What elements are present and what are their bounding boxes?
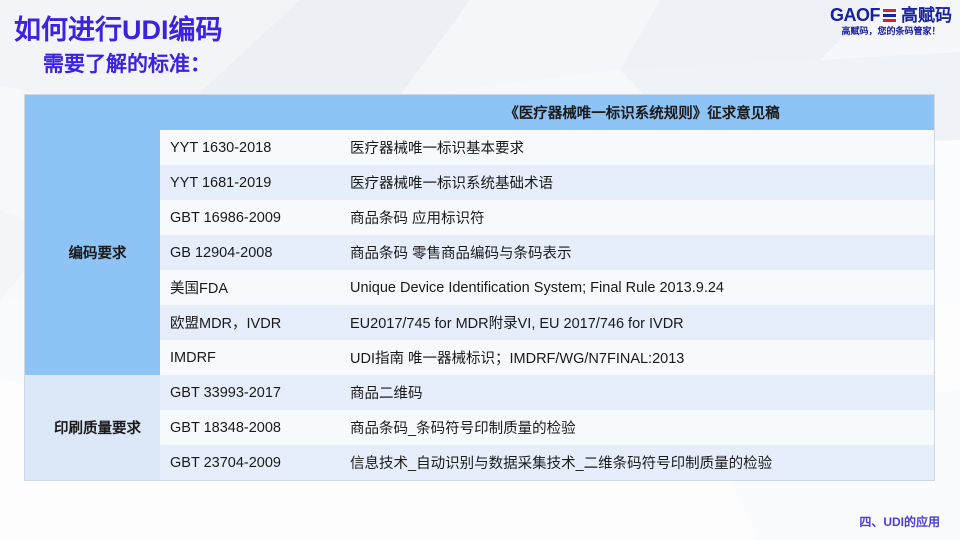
group-label-coding: 编码要求 xyxy=(25,130,160,375)
standard-code: GBT 23704-2009 xyxy=(160,445,340,480)
standard-desc: Unique Device Identification System; Fin… xyxy=(340,270,934,305)
logo-chinese-name: 高赋码 xyxy=(901,7,952,24)
slide-footer-section: 四、UDI的应用 xyxy=(859,513,940,530)
standard-desc: 医疗器械唯一标识基本要求 xyxy=(340,130,934,165)
standard-code: GBT 18348-2008 xyxy=(160,410,340,445)
standard-code: GBT 16986-2009 xyxy=(160,200,340,235)
standard-desc: 商品条码_条码符号印制质量的检验 xyxy=(340,410,934,445)
standard-code: IMDRF xyxy=(160,340,340,375)
group-label-print-quality: 印刷质量要求 xyxy=(25,375,160,480)
brand-logo: GAOF 高赋码 高赋码，您的条码管家！ xyxy=(830,6,952,36)
table-row: 美国FDA Unique Device Identification Syste… xyxy=(25,270,934,305)
header-main-title-cell: 《医疗器械唯一标识系统规则》征求意见稿 xyxy=(340,95,934,130)
standards-table: 《医疗器械唯一标识系统规则》征求意见稿 编码要求 YYT 1630-2018 医… xyxy=(25,95,934,480)
header-group-cell xyxy=(25,95,160,130)
table-row: GBT 23704-2009 信息技术_自动识别与数据采集技术_二维条码符号印制… xyxy=(25,445,934,480)
standard-desc: 商品二维码 xyxy=(340,375,934,410)
table-row: YYT 1681-2019 医疗器械唯一标识系统基础术语 xyxy=(25,165,934,200)
table-row: GBT 16986-2009 商品条码 应用标识符 xyxy=(25,200,934,235)
page-subtitle: 需要了解的标准： xyxy=(43,48,211,78)
table-row: 印刷质量要求 GBT 33993-2017 商品二维码 xyxy=(25,375,934,410)
logo-wordmark: GAOF xyxy=(830,6,880,24)
slide-root: 如何进行UDI编码 需要了解的标准： GAOF 高赋码 高赋码，您的条码管家！ … xyxy=(0,0,960,540)
standard-desc: EU2017/745 for MDR附录VI, EU 2017/746 for … xyxy=(340,305,934,340)
standard-desc: 商品条码 应用标识符 xyxy=(340,200,934,235)
standard-desc: 医疗器械唯一标识系统基础术语 xyxy=(340,165,934,200)
table-row: 编码要求 YYT 1630-2018 医疗器械唯一标识基本要求 xyxy=(25,130,934,165)
standard-desc: 信息技术_自动识别与数据采集技术_二维条码符号印制质量的检验 xyxy=(340,445,934,480)
table-row: 欧盟MDR，IVDR EU2017/745 for MDR附录VI, EU 20… xyxy=(25,305,934,340)
standard-code: 欧盟MDR，IVDR xyxy=(160,305,340,340)
standards-table-container: 《医疗器械唯一标识系统规则》征求意见稿 编码要求 YYT 1630-2018 医… xyxy=(25,95,934,480)
header-code-cell xyxy=(160,95,340,130)
standard-desc: UDI指南 唯一器械标识；IMDRF/WG/N7FINAL:2013 xyxy=(340,340,934,375)
logo-tagline: 高赋码，您的条码管家！ xyxy=(830,27,952,36)
standard-code: GB 12904-2008 xyxy=(160,235,340,270)
table-row: GBT 18348-2008 商品条码_条码符号印制质量的检验 xyxy=(25,410,934,445)
table-header-row: 《医疗器械唯一标识系统规则》征求意见稿 xyxy=(25,95,934,130)
standard-code: YYT 1630-2018 xyxy=(160,130,340,165)
logo-main-row: GAOF 高赋码 xyxy=(830,6,952,24)
page-title: 如何进行UDI编码 xyxy=(14,8,223,47)
table-row: IMDRF UDI指南 唯一器械标识；IMDRF/WG/N7FINAL:2013 xyxy=(25,340,934,375)
standard-code: GBT 33993-2017 xyxy=(160,375,340,410)
table-row: GB 12904-2008 商品条码 零售商品编码与条码表示 xyxy=(25,235,934,270)
standard-code: 美国FDA xyxy=(160,270,340,305)
standard-code: YYT 1681-2019 xyxy=(160,165,340,200)
barcode-bars-icon xyxy=(883,9,896,22)
standard-desc: 商品条码 零售商品编码与条码表示 xyxy=(340,235,934,270)
